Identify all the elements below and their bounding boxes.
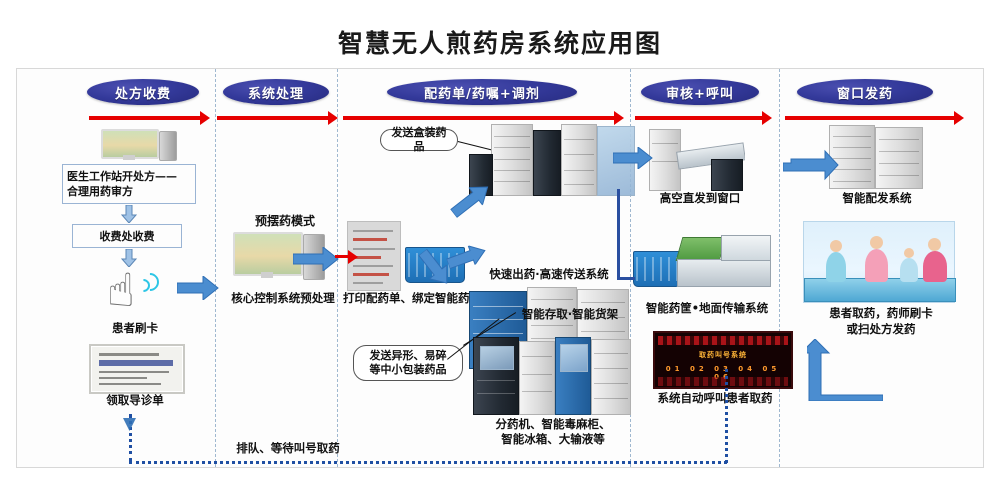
blue-arrow-col3-col4-top (613, 147, 653, 169)
guide-ticket-label: 领取导诊单 (83, 393, 187, 407)
return-dotted-line (129, 461, 727, 464)
blue-arrow-col1-col2 (177, 276, 219, 300)
diagram-board: 处方收费 系统处理 配药单/药嘱+调剂 审核+呼叫 窗口发药 医生工作站开处方—… (16, 68, 984, 468)
basket-transfer-label: 智能药筐•地面传输系统 (631, 301, 783, 315)
stage-oval-window[interactable]: 窗口发药 (797, 79, 933, 105)
stage-oval-dispense[interactable]: 配药单/药嘱+调剂 (387, 79, 577, 105)
red-arrow-5 (785, 116, 955, 120)
swipe-card-label: 患者刷卡 (89, 321, 181, 335)
column-separator-4 (779, 69, 780, 467)
blue-elbow-arrow-bottom (807, 339, 883, 401)
fast-dispense-label: 快速出药·高速传送系统 (469, 267, 629, 281)
diagram-page: 智慧无人煎药房系统应用图 处方收费 系统处理 配药单/药嘱+调剂 审核+呼叫 窗… (0, 0, 1000, 485)
swipe-card-icon: ☝ (95, 265, 173, 321)
down-arrow-1 (121, 205, 137, 223)
red-arrow-into-sheet (335, 255, 349, 258)
patient-pickup-label: 患者取药，药师刷卡 或扫处方发药 (803, 305, 959, 337)
smart-shelf-label: 智能存取·智能货架 (505, 307, 635, 321)
pre-dispense-mode-label: 预摆药模式 (235, 214, 335, 228)
blue-elbow-arrow-top (783, 145, 839, 181)
queue-label: 排队、等待叫号取药 (193, 441, 383, 455)
payment-box: 收费处收费 (72, 224, 182, 248)
prescription-box: 医生工作站开处方—— 合理用药审方 (62, 164, 196, 204)
stage-oval-system[interactable]: 系统处理 (223, 79, 329, 105)
smart-dispensing-cabinet-photo (829, 125, 923, 189)
prescription-box-text: 医生工作站开处方—— 合理用药审方 (67, 169, 177, 199)
red-arrow-2 (217, 116, 329, 120)
patient-pickup-label-text: 患者取药，药师刷卡 或扫处方发药 (829, 306, 933, 336)
overhead-window-label: 高空直发到窗口 (645, 191, 755, 205)
overhead-transfer-photo (649, 129, 745, 191)
bubble-irregular-drugs-text: 发送异形、易碎 等中小包装药品 (370, 349, 447, 377)
basket-conveyor-photo (633, 229, 771, 297)
machines-label: 分药机、智能毒麻柜、 智能冰箱、大输液等 (465, 417, 641, 447)
stage-oval-review[interactable]: 审核+呼叫 (641, 79, 759, 105)
smart-dispensing-label: 智能配发系统 (817, 191, 937, 205)
payment-box-text: 收费处收费 (100, 229, 155, 244)
dispensing-machines-photo (473, 337, 631, 415)
led-title: 取药叫号系统 (655, 350, 791, 360)
red-arrow-1 (89, 116, 201, 120)
core-control-label: 核心控制系统预处理 (221, 291, 345, 305)
guide-ticket-photo (89, 344, 185, 394)
stage-oval-prescription[interactable]: 处方收费 (87, 79, 199, 105)
led-call-board: 取药叫号系统 01 02 03 04 05 06 (653, 331, 793, 389)
auto-call-label: 系统自动呼叫患者取药 (631, 391, 799, 405)
connector-bracket-vertical (617, 189, 620, 279)
machines-label-text: 分药机、智能毒麻柜、 智能冰箱、大输液等 (496, 417, 611, 446)
fast-dispensing-photo (417, 124, 635, 196)
pharmacy-counter-scene (803, 221, 955, 303)
page-title: 智慧无人煎药房系统应用图 (0, 24, 1000, 60)
bubble-irregular-drugs: 发送异形、易碎 等中小包装药品 (353, 345, 463, 381)
connector-bracket-horizontal (617, 277, 635, 280)
red-arrow-3 (343, 116, 615, 120)
blue-arrow-col2-col3 (293, 247, 339, 271)
doctor-workstation-photo (99, 129, 183, 161)
red-arrow-4 (635, 116, 763, 120)
return-dotted-vertical-right (725, 369, 728, 463)
column-separator-1 (215, 69, 216, 467)
return-arrow-down (122, 418, 137, 432)
